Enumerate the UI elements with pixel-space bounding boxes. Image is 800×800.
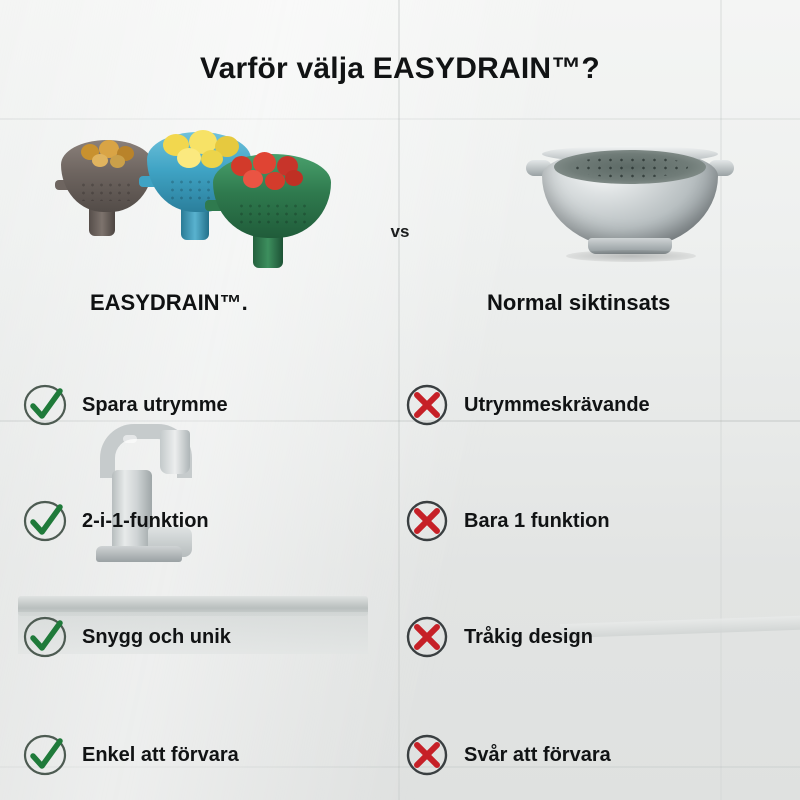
comparison-row-left: Snygg och unik <box>22 614 231 660</box>
comparison-list: Spara utrymme Utrymmeskrävande <box>0 376 800 800</box>
column-heading-normal: Normal siktinsats <box>487 290 670 316</box>
easydrain-product-image <box>55 118 345 258</box>
feature-label-right: Svår att förvara <box>464 744 611 767</box>
cross-circle-icon <box>404 382 450 428</box>
feature-label-left: Enkel att förvara <box>82 744 239 767</box>
content-lemon <box>177 148 201 168</box>
colander-perforations <box>572 156 688 178</box>
column-heading-easydrain: EASYDRAIN™. <box>90 290 248 316</box>
cross-circle-icon <box>404 732 450 778</box>
comparison-row: 2-i-1-funktion Bara 1 funktion <box>0 484 800 592</box>
comparison-row-left: Spara utrymme <box>22 382 228 428</box>
funnel-green <box>213 154 331 246</box>
feature-label-left: Spara utrymme <box>82 394 228 417</box>
promo-graphic: Varför välja EASYDRAIN™? <box>0 0 800 800</box>
colander-shadow <box>566 250 696 262</box>
comparison-row-right: Bara 1 funktion <box>404 498 610 544</box>
content-tomato <box>285 170 303 186</box>
comparison-row-left: 2-i-1-funktion <box>22 498 209 544</box>
comparison-row-right: Svår att förvara <box>404 732 611 778</box>
content-tomato <box>265 172 285 190</box>
content-nut <box>92 154 108 167</box>
comparison-row-left: Enkel att förvara <box>22 732 239 778</box>
cross-circle-icon <box>404 614 450 660</box>
content-tomato <box>243 170 263 188</box>
comparison-row-right: Tråkig design <box>404 614 593 660</box>
comparison-row: Enkel att förvara Svår att förvara <box>0 700 800 800</box>
feature-label-left: Snygg och unik <box>82 626 231 649</box>
feature-label-right: Utrymmeskrävande <box>464 394 650 417</box>
check-circle-icon <box>22 498 68 544</box>
funnel-grey-holes <box>79 181 134 201</box>
cross-circle-icon <box>404 498 450 544</box>
feature-label-left: 2-i-1-funktion <box>82 510 209 533</box>
comparison-row: Snygg och unik Tråkig design <box>0 592 800 700</box>
colander-product-image <box>520 120 740 270</box>
vs-label: vs <box>370 222 430 242</box>
comparison-row-right: Utrymmeskrävande <box>404 382 650 428</box>
content-nut <box>110 155 125 168</box>
check-circle-icon <box>22 382 68 428</box>
feature-label-right: Bara 1 funktion <box>464 510 610 533</box>
page-title: Varför välja EASYDRAIN™? <box>0 52 800 86</box>
check-circle-icon <box>22 732 68 778</box>
feature-label-right: Tråkig design <box>464 626 593 649</box>
funnel-green-holes <box>237 202 308 226</box>
comparison-row: Spara utrymme Utrymmeskrävande <box>0 376 800 484</box>
check-circle-icon <box>22 614 68 660</box>
